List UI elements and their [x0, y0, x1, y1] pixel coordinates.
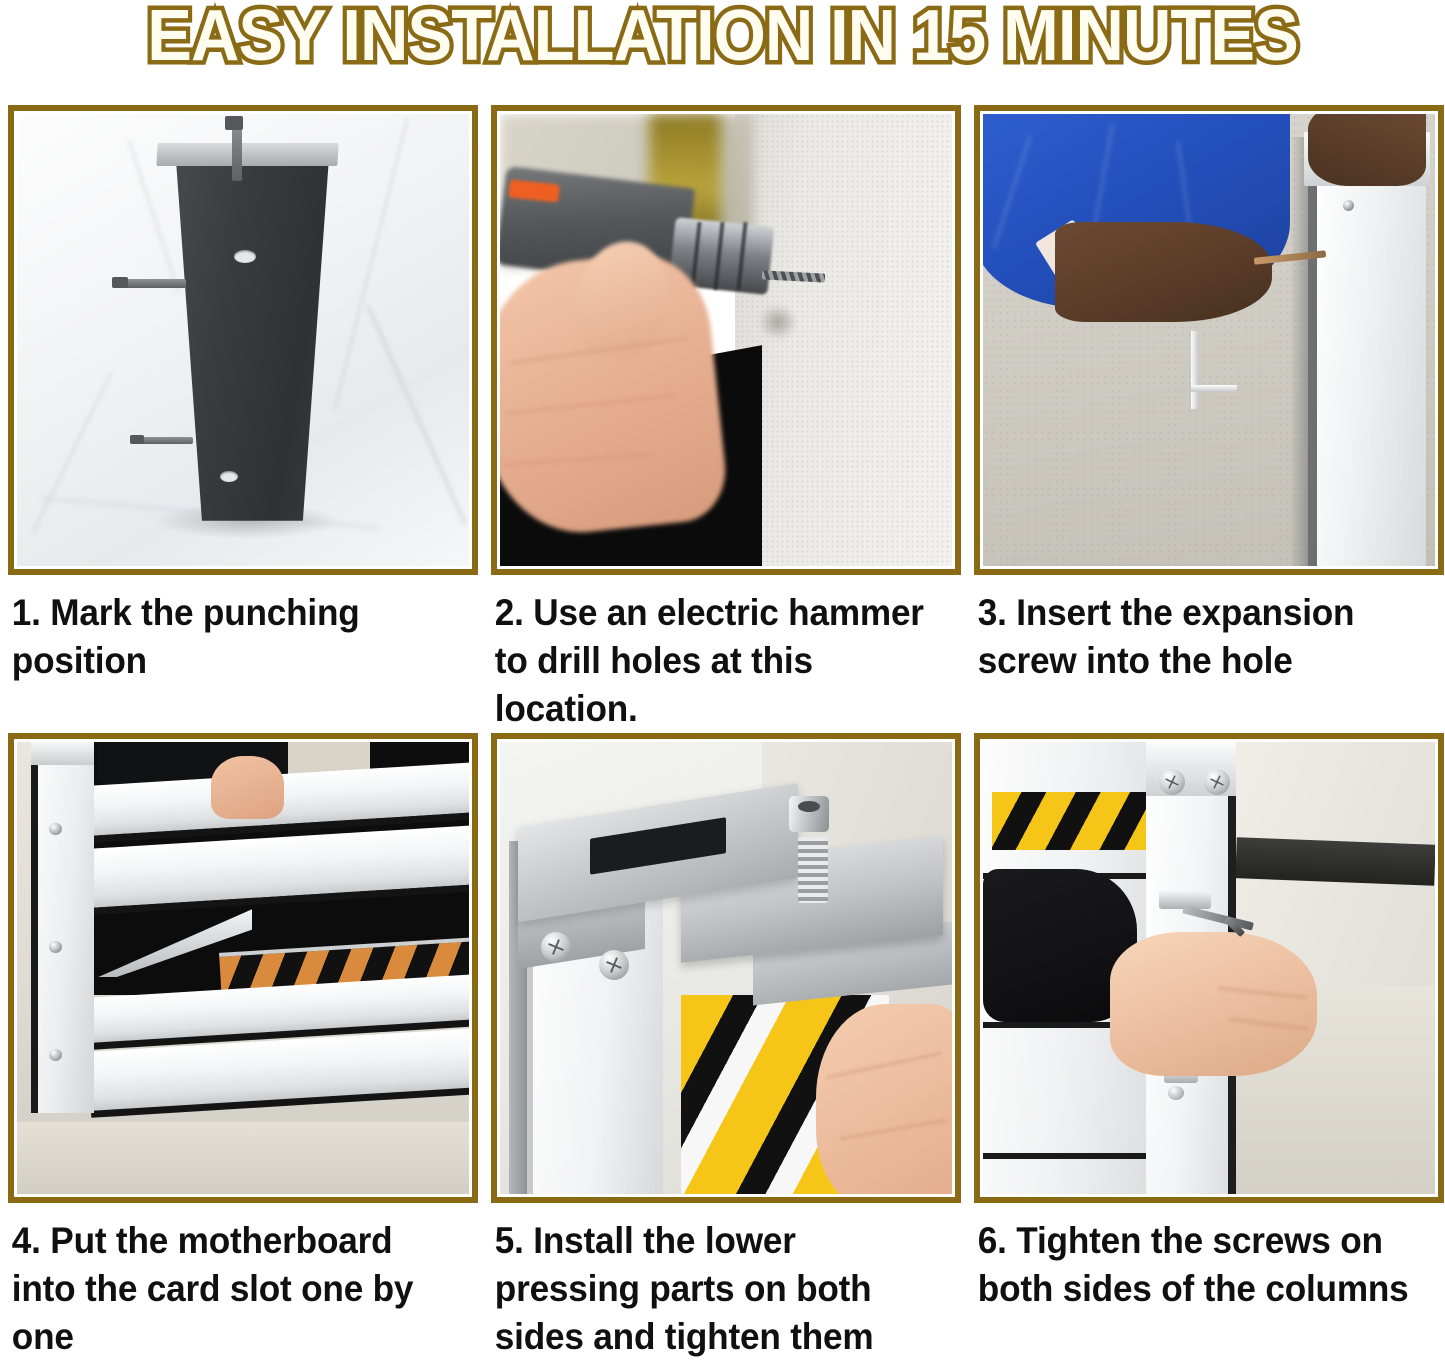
photo-install-pressing-parts: [500, 742, 952, 1194]
step-caption-5: 5. Install the lower pressing parts on b…: [491, 1203, 938, 1361]
drill-dust: [758, 304, 799, 340]
threaded-bolt-shaft: [798, 837, 828, 903]
floor: [17, 1122, 469, 1194]
cloth-fold-icon: [366, 305, 466, 525]
step-caption-2: 2. Use an electric hammer to drill holes…: [491, 575, 938, 733]
step-card-1: 1. Mark the punching position: [8, 105, 478, 733]
hazard-stripe-tape: [992, 792, 1146, 851]
column-shadow: [1290, 137, 1308, 566]
lower-screw-head: [1168, 1086, 1184, 1100]
step-photo-frame-6: [974, 733, 1444, 1203]
hand: [211, 756, 283, 819]
allen-key-icon: [1191, 331, 1198, 409]
upper-hand: [1308, 114, 1426, 186]
step-photo-frame-5: [491, 733, 961, 1203]
step-card-3: 3. Insert the expansion screw into the h…: [974, 105, 1444, 733]
side-bolt-upper-head: [112, 277, 128, 288]
white-column-slot: [31, 742, 94, 1113]
dark-column-post: [166, 159, 329, 521]
step-card-4: 4. Put the motherboard into the card slo…: [8, 733, 478, 1361]
step-photo-frame-2: [491, 105, 961, 575]
step-caption-6: 6. Tighten the screws on both sides of t…: [974, 1203, 1421, 1337]
forearm-and-hand: [1055, 222, 1272, 321]
step-caption-3: 3. Insert the expansion screw into the h…: [974, 575, 1421, 721]
step-photo-frame-3: [974, 105, 1444, 575]
hand: [816, 1004, 952, 1194]
photo-mark-punching-position: [17, 114, 469, 566]
hand: [1110, 932, 1318, 1077]
photo-tighten-column-screws: [983, 742, 1435, 1194]
top-bolt-head: [225, 116, 243, 130]
cloth-fold-icon: [32, 371, 113, 534]
photo-insert-expansion-screw: [983, 114, 1435, 566]
phillips-screw-icon: [541, 932, 571, 962]
board-seam: [983, 1153, 1164, 1159]
steps-grid: 1. Mark the punching position: [0, 105, 1445, 1361]
wall-surface: [735, 114, 952, 566]
step-caption-4: 4. Put the motherboard into the card slo…: [8, 1203, 455, 1361]
step-card-5: 5. Install the lower pressing parts on b…: [491, 733, 961, 1361]
screw-icon: [1343, 200, 1354, 211]
screw-icon: [49, 941, 62, 953]
allen-key-short-arm: [1191, 385, 1237, 392]
step-photo-frame-4: [8, 733, 478, 1203]
step-card-2: 2. Use an electric hammer to drill holes…: [491, 105, 961, 733]
mounting-hole-icon: [234, 250, 256, 263]
bolt-socket-hole: [798, 801, 820, 812]
screw-icon: [49, 823, 62, 835]
post-top-plate: [157, 143, 339, 166]
step-caption-1: 1. Mark the punching position: [8, 575, 455, 721]
baseboard: [1235, 838, 1435, 886]
photo-drill-holes: [500, 114, 952, 566]
step-photo-frame-1: [8, 105, 478, 575]
step-card-6: 6. Tighten the screws on both sides of t…: [974, 733, 1444, 1361]
title-bar: EASY INSTALLATION IN 15 MINUTES: [0, 0, 1445, 105]
column-cap: [31, 742, 94, 765]
screw-icon: [49, 1049, 62, 1061]
side-bolt-lower-head: [130, 435, 144, 444]
white-column: [1308, 137, 1426, 566]
photo-insert-boards-into-slot: [17, 742, 469, 1194]
page-title: EASY INSTALLATION IN 15 MINUTES: [147, 2, 1298, 70]
